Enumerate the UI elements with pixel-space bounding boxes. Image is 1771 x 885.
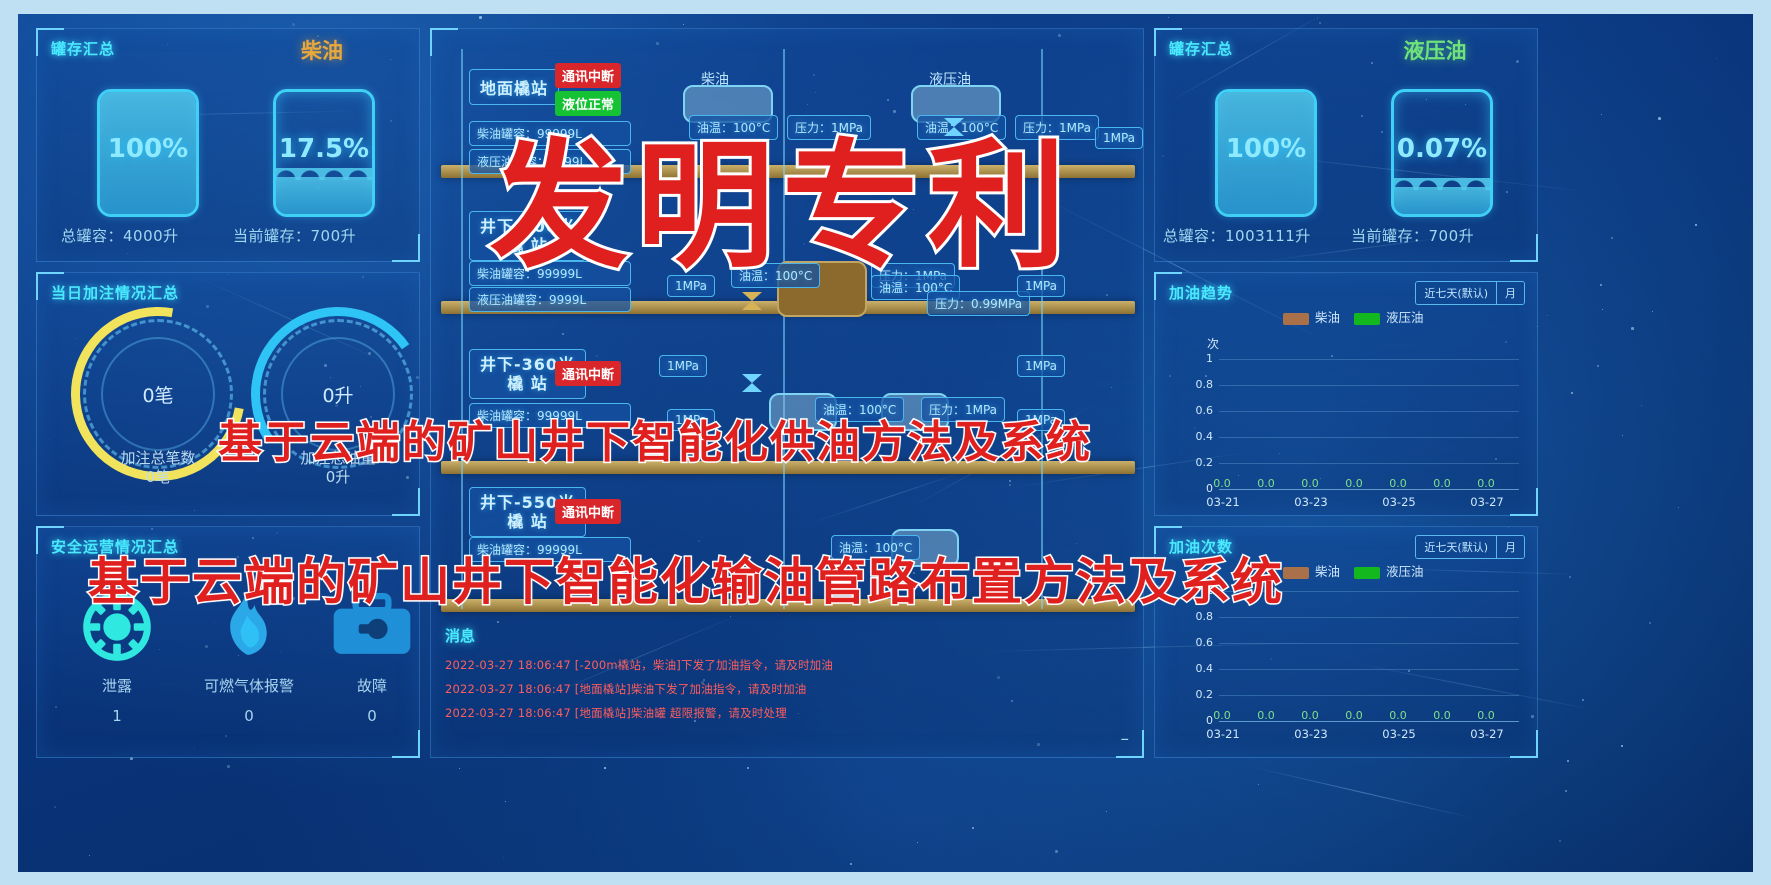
tank-wave xyxy=(1394,178,1490,190)
legend-label-diesel-count: 柴油 xyxy=(1315,564,1340,579)
chart-ylabel-trend: 次 xyxy=(1207,335,1219,352)
point-label-trend-5: 0.0 xyxy=(1381,477,1415,490)
tank-caption-total-diesel: 总罐容：4000升 xyxy=(61,225,179,246)
panel-daily-refuel: 当日加注情况汇总 0笔 加注总笔数 0笔 0升 加注总油量 0升 xyxy=(36,272,420,516)
message-row-3: 2022-03-27 18:06:47 [地面橇站]柴油罐 超限报警，请及时处理 xyxy=(445,705,787,721)
pressure-tag-1: 1MPa xyxy=(1095,127,1143,149)
point-label-trend-4: 0.0 xyxy=(1337,477,1371,490)
tank-percent-total-hydraulic: 100% xyxy=(1218,134,1314,164)
overlay-line-1: 基于云端的矿山井下智能化供油方法及系统 xyxy=(218,406,1092,470)
gridline xyxy=(1219,385,1519,386)
point-label-count-3: 0.0 xyxy=(1293,709,1327,722)
panel-title-left-stock: 罐存汇总 xyxy=(51,38,115,59)
gridline xyxy=(1219,359,1519,360)
fuel-name-hydraulic: 液压油 xyxy=(1345,35,1525,65)
chart-legend-trend: 柴油 液压油 xyxy=(1283,307,1424,326)
legend-label-hydraulic-count: 液压油 xyxy=(1386,564,1424,579)
screenshot-root: 罐存汇总 柴油 100% 总罐容：4000升 17.5% 当前罐存：700升 当… xyxy=(0,0,1771,885)
safety-value-fault: 0 xyxy=(319,707,425,725)
tank-fill xyxy=(1394,187,1490,214)
legend-label-diesel-trend: 柴油 xyxy=(1315,310,1340,325)
safety-label-fault: 故障 xyxy=(319,675,425,696)
panel-left-stock: 罐存汇总 柴油 100% 总罐容：4000升 17.5% 当前罐存：700升 xyxy=(36,28,420,262)
legend-swatch-hydraulic xyxy=(1354,567,1380,579)
xtick-count-1: 03-21 xyxy=(1203,727,1243,741)
tank-caption-current-hydraulic: 当前罐存：700升 xyxy=(1351,225,1474,246)
gridline xyxy=(1219,437,1519,438)
dashboard-screen: 罐存汇总 柴油 100% 总罐容：4000升 17.5% 当前罐存：700升 当… xyxy=(18,14,1753,872)
fuel-name-diesel: 柴油 xyxy=(237,35,407,65)
safety-label-leak: 泄露 xyxy=(69,675,165,696)
legend-label-hydraulic-trend: 液压油 xyxy=(1386,310,1424,325)
xtick-trend-2: 03-23 xyxy=(1291,495,1331,509)
panel-refuel-trend: 加油趋势 近七天(默认) 月 柴油 液压油 次 1 0.8 0.6 0.4 0.… xyxy=(1154,272,1538,516)
tank-total-hydraulic: 100% xyxy=(1215,89,1317,217)
xtick-trend-4: 03-27 xyxy=(1467,495,1507,509)
gridline xyxy=(1219,669,1519,670)
ytick-trend-08: 0.8 xyxy=(1175,378,1213,391)
ytick-count-02: 0.2 xyxy=(1175,688,1213,701)
xtick-trend-1: 03-21 xyxy=(1203,495,1243,509)
gauge-label-count-line2: 0笔 xyxy=(83,468,233,487)
gauge-refuel-count: 0笔 xyxy=(83,319,233,469)
ytick-trend-04: 0.4 xyxy=(1175,430,1213,443)
chart-plot-trend: 1 0.8 0.6 0.4 0.2 0 0.0 0.0 0.0 0.0 0.0 … xyxy=(1175,359,1523,491)
pipe-riser-left xyxy=(461,49,463,609)
range-selector-count[interactable]: 近七天(默认) 月 xyxy=(1415,535,1525,559)
panel-right-stock: 罐存汇总 液压油 100% 总罐容：1003111升 0.07% 当前罐存：70… xyxy=(1154,28,1538,262)
gridline xyxy=(1219,643,1519,644)
minimize-icon[interactable]: – xyxy=(1121,729,1130,749)
legend-item-hydraulic-count: 液压油 xyxy=(1354,561,1424,580)
tank-caption-total-hydraulic: 总罐容：1003111升 xyxy=(1163,225,1311,246)
tank-current-diesel: 17.5% xyxy=(273,89,375,217)
point-label-trend-2: 0.0 xyxy=(1249,477,1283,490)
tank-percent-current-diesel: 17.5% xyxy=(276,134,372,164)
ytick-trend-1: 1 xyxy=(1175,352,1213,365)
tank-fill xyxy=(276,177,372,214)
tank-percent-total-diesel: 100% xyxy=(100,134,196,164)
point-label-count-5: 0.0 xyxy=(1381,709,1415,722)
point-label-count-6: 0.0 xyxy=(1425,709,1459,722)
message-log-title: 消息 xyxy=(445,625,475,646)
overlay-patent-title: 发明专利 xyxy=(490,94,1074,294)
station-badge-comm-ground: 通讯中断 xyxy=(555,63,621,88)
tank-total-diesel: 100% xyxy=(97,89,199,217)
gauge-value-count: 0笔 xyxy=(83,319,233,469)
point-label-count-4: 0.0 xyxy=(1337,709,1371,722)
legend-item-diesel-trend: 柴油 xyxy=(1283,307,1340,326)
safety-label-gas-alarm: 可燃气体报警 xyxy=(169,675,329,696)
range-option-month-count[interactable]: 月 xyxy=(1496,536,1524,558)
pressure-tag-4: 1MPa xyxy=(659,355,707,377)
message-row-1: 2022-03-27 18:06:47 [-200m橇站，柴油]下发了加油指令，… xyxy=(445,657,833,673)
point-label-trend-7: 0.0 xyxy=(1469,477,1503,490)
readout-pressure-4: 压力：0.99MPa xyxy=(927,291,1030,316)
point-label-count-7: 0.0 xyxy=(1469,709,1503,722)
point-label-trend-1: 0.0 xyxy=(1205,477,1239,490)
panel-title-refuel-trend: 加油趋势 xyxy=(1169,282,1233,303)
legend-item-hydraulic-trend: 液压油 xyxy=(1354,307,1424,326)
xtick-trend-3: 03-25 xyxy=(1379,495,1419,509)
tank-wave xyxy=(276,168,372,180)
xtick-count-3: 03-25 xyxy=(1379,727,1419,741)
tank-current-hydraulic: 0.07% xyxy=(1391,89,1493,217)
valve-icon-2 xyxy=(741,291,763,315)
legend-swatch-diesel xyxy=(1283,313,1309,325)
pressure-tag-5: 1MPa xyxy=(1017,355,1065,377)
tank-caption-current-diesel: 当前罐存：700升 xyxy=(233,225,356,246)
gauge-label-count-line1: 加注总笔数 xyxy=(83,449,233,468)
gridline xyxy=(1219,463,1519,464)
tank-percent-current-hydraulic: 0.07% xyxy=(1394,134,1490,164)
ytick-trend-06: 0.6 xyxy=(1175,404,1213,417)
legend-item-diesel-count: 柴油 xyxy=(1283,561,1340,580)
range-option-week-trend[interactable]: 近七天(默认) xyxy=(1416,282,1496,304)
gridline xyxy=(1219,411,1519,412)
range-option-month-trend[interactable]: 月 xyxy=(1496,282,1524,304)
gauge-label-volume-line2: 0升 xyxy=(263,468,413,487)
ytick-count-04: 0.4 xyxy=(1175,662,1213,675)
point-label-trend-6: 0.0 xyxy=(1425,477,1459,490)
ytick-trend-02: 0.2 xyxy=(1175,456,1213,469)
overlay-line-2: 基于云端的矿山井下智能化输油管路布置方法及系统 xyxy=(88,542,1284,614)
gauge-label-count: 加注总笔数 0笔 xyxy=(83,449,233,487)
xtick-count-2: 03-23 xyxy=(1291,727,1331,741)
ytick-count-06: 0.6 xyxy=(1175,636,1213,649)
station-badge-comm-360m: 通讯中断 xyxy=(555,361,621,386)
point-label-count-1: 0.0 xyxy=(1205,709,1239,722)
gridline xyxy=(1219,695,1519,696)
safety-value-leak: 1 xyxy=(69,707,165,725)
legend-swatch-diesel xyxy=(1283,567,1309,579)
point-label-trend-3: 0.0 xyxy=(1293,477,1327,490)
gridline xyxy=(1219,617,1519,618)
safety-value-gas-alarm: 0 xyxy=(169,707,329,725)
point-label-count-2: 0.0 xyxy=(1249,709,1283,722)
panel-title-daily-refuel: 当日加注情况汇总 xyxy=(51,282,179,303)
range-option-week-count[interactable]: 近七天(默认) xyxy=(1416,536,1496,558)
chart-legend-count: 柴油 液压油 xyxy=(1283,561,1424,580)
legend-swatch-hydraulic xyxy=(1354,313,1380,325)
station-badge-comm-550m: 通讯中断 xyxy=(555,499,621,524)
xtick-count-4: 03-27 xyxy=(1467,727,1507,741)
panel-title-right-stock: 罐存汇总 xyxy=(1169,38,1233,59)
range-selector-trend[interactable]: 近七天(默认) 月 xyxy=(1415,281,1525,305)
message-row-2: 2022-03-27 18:06:47 [地面橇站]柴油下发了加油指令，请及时加… xyxy=(445,681,806,697)
valve-icon-3 xyxy=(741,373,763,397)
